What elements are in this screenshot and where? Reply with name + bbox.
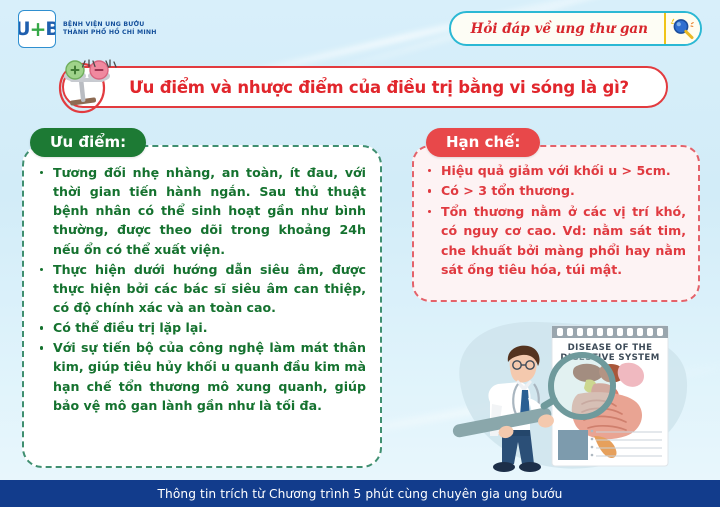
topic-badge: Hỏi đáp về ung thư gan	[449, 11, 702, 46]
page-title: Ưu điểm và nhược điểm của điều trị bằng …	[129, 78, 629, 97]
pros-list: Tương đối nhẹ nhàng, an toàn, ít đau, vớ…	[36, 163, 366, 415]
hospital-brand: U+B BỆNH VIỆN UNG BƯỚU THÀNH PHỐ HỒ CHÍ …	[18, 10, 157, 48]
header: U+B BỆNH VIỆN UNG BƯỚU THÀNH PHỐ HỒ CHÍ …	[0, 0, 720, 58]
list-item: Có thể điều trị lặp lại.	[36, 318, 366, 337]
pros-section-header: Ưu điểm:	[30, 128, 146, 157]
cons-panel: Hiệu quả giảm với khối u > 5cm. Có > 3 t…	[412, 145, 700, 302]
footer-text: Thông tin trích từ Chương trình 5 phút c…	[158, 487, 563, 501]
footer-bar: Thông tin trích từ Chương trình 5 phút c…	[0, 480, 720, 507]
hospital-brand-text: BỆNH VIỆN UNG BƯỚU THÀNH PHỐ HỒ CHÍ MINH	[63, 21, 157, 37]
list-item: Thực hiện dưới hướng dẫn siêu âm, được t…	[36, 260, 366, 317]
list-item: Với sự tiến bộ của công nghệ làm mát thâ…	[36, 338, 366, 415]
magnifier-icon	[664, 13, 700, 44]
hospital-name-line-1: BỆNH VIỆN UNG BƯỚU	[63, 21, 157, 29]
cons-list: Hiệu quả giảm với khối u > 5cm. Có > 3 t…	[424, 161, 686, 279]
hospital-logo-icon: U+B	[18, 10, 56, 48]
list-item: Hiệu quả giảm với khối u > 5cm.	[424, 161, 686, 180]
title-banner: Ưu điểm và nhược điểm của điều trị bằng …	[62, 66, 668, 108]
topic-badge-label: Hỏi đáp về ung thư gan	[451, 13, 664, 44]
list-item: Tổn thương nằm ở các vị trí khó, có nguy…	[424, 202, 686, 280]
poster-title-line-1: DISEASE OF THE	[568, 343, 653, 353]
pros-panel: Tương đối nhẹ nhàng, an toàn, ít đau, vớ…	[22, 145, 382, 468]
balance-scale-icon	[58, 58, 132, 120]
hospital-name-line-2: THÀNH PHỐ HỒ CHÍ MINH	[63, 29, 157, 37]
list-item: Tương đối nhẹ nhàng, an toàn, ít đau, vớ…	[36, 163, 366, 259]
cons-section-header: Hạn chế:	[426, 128, 540, 157]
doctor-with-magnifier-illustration: DISEASE OF THE DIGESTIVE SYSTEM	[446, 312, 698, 478]
list-item: Có > 3 tổn thương.	[424, 181, 686, 200]
